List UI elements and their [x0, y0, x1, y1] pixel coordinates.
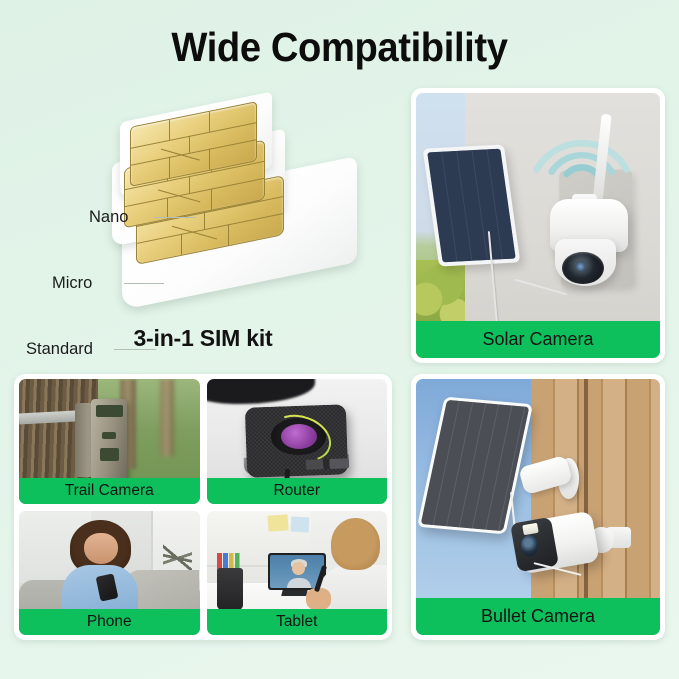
panel-router[interactable]: Router [207, 379, 388, 504]
bullet-camera-photo [416, 379, 660, 635]
pen-cup [217, 568, 242, 610]
panel-grid-group: Trail Camera Router [14, 374, 392, 640]
fence-plank-seam [584, 379, 588, 635]
panel-tablet[interactable]: Tablet [207, 511, 388, 636]
solar-camera-label: Solar Camera [416, 321, 660, 358]
wooden-fence-background [531, 379, 660, 635]
tablet-stand [281, 589, 308, 596]
panel-bullet-camera[interactable]: Bullet Camera [411, 374, 665, 640]
camera-lens [562, 252, 603, 284]
sim-kit-section: Nano Micro Standard 3-in-1 SIM kit [14, 88, 392, 363]
person-face [84, 533, 118, 564]
solar-panel [422, 144, 519, 266]
page-title: Wide Compatibility [24, 24, 655, 71]
device-grid: Trail Camera Router [19, 379, 387, 635]
nano-label: Nano [89, 208, 128, 227]
router-display-disc [281, 424, 317, 449]
infographic-page: Wide Compatibility Nano Micro Standard 3… [0, 0, 679, 679]
trail-camera-body [91, 399, 127, 481]
tablet-label: Tablet [207, 609, 388, 635]
child-head [331, 518, 380, 570]
bullet-camera-label: Bullet Camera [416, 598, 660, 635]
solar-cells [427, 149, 515, 263]
router-label: Router [207, 478, 388, 504]
background-object [207, 379, 315, 404]
solar-camera-photo [416, 93, 660, 358]
background-tree-3 [160, 379, 174, 456]
nano-leader-line [154, 217, 196, 218]
panel-phone[interactable]: Phone [19, 511, 200, 636]
sticky-note-blue [291, 516, 310, 532]
camera-lens [521, 535, 538, 555]
micro-label: Micro [52, 274, 92, 293]
bullet-camera-tile: Bullet Camera [416, 379, 660, 635]
sim-kit-caption: 3-in-1 SIM kit [14, 325, 392, 352]
router-ports [306, 458, 350, 469]
solar-camera-tile: Solar Camera [416, 93, 660, 358]
sticky-note-yellow [267, 515, 288, 533]
phone-label: Phone [19, 609, 200, 635]
panel-trail-camera[interactable]: Trail Camera [19, 379, 200, 504]
panel-solar-camera[interactable]: Solar Camera [411, 88, 665, 363]
trail-camera-label: Trail Camera [19, 478, 200, 504]
wifi-signal-icon [528, 109, 635, 183]
micro-leader-line [124, 283, 164, 284]
